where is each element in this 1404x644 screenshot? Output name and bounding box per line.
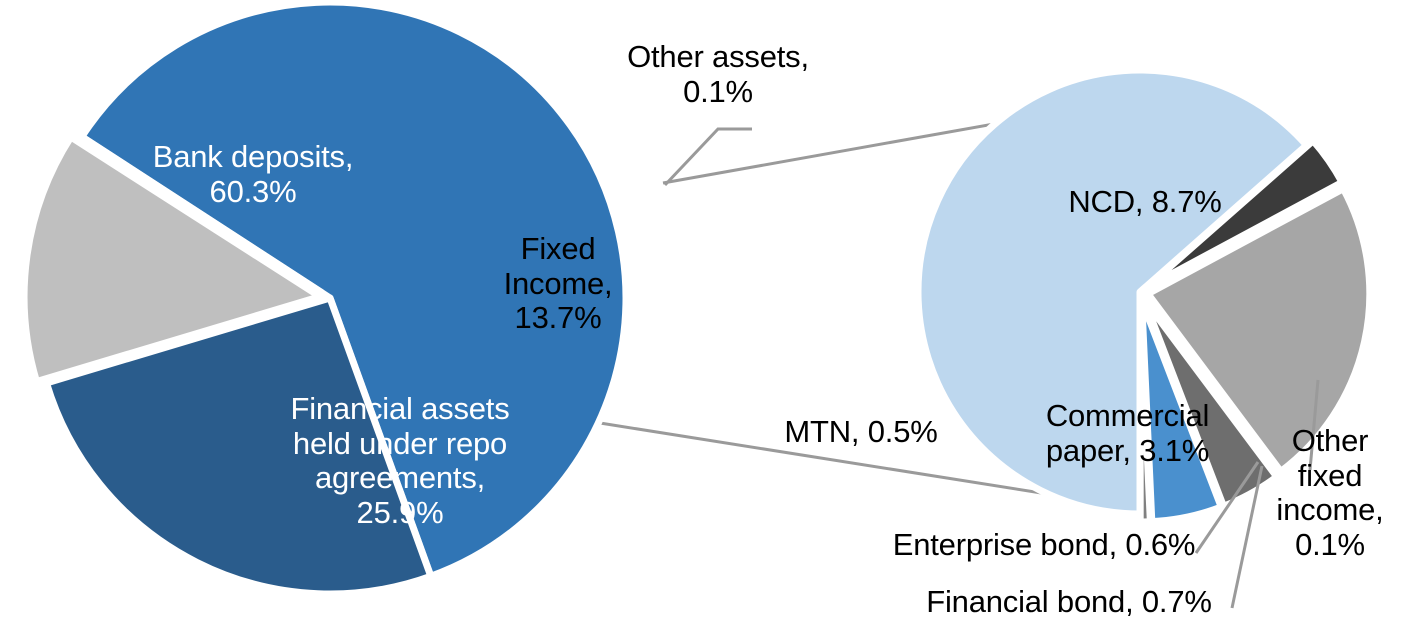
label-other-fixed-income: Other fixed income, 0.1% (1255, 424, 1404, 563)
label-commercial-paper: Commercial paper, 3.1% (1030, 399, 1225, 468)
label-financial-bond: Financial bond, 0.7% (902, 585, 1236, 620)
label-fixed-income: Fixed Income, 13.7% (478, 232, 638, 336)
label-ncd: NCD, 8.7% (1040, 185, 1250, 220)
label-enterprise-bond: Enterprise bond, 0.6% (872, 528, 1216, 563)
label-repo-agreements: Financial assets held under repo agreeme… (255, 392, 545, 531)
label-bank-deposits: Bank deposits, 60.3% (118, 140, 388, 209)
label-other-assets: Other assets, 0.1% (598, 40, 838, 109)
label-mtn: MTN, 0.5% (766, 415, 956, 450)
pie-of-pie-chart: Bank deposits, 60.3% Financial assets he… (0, 0, 1404, 644)
leader-other-assets (665, 129, 752, 185)
